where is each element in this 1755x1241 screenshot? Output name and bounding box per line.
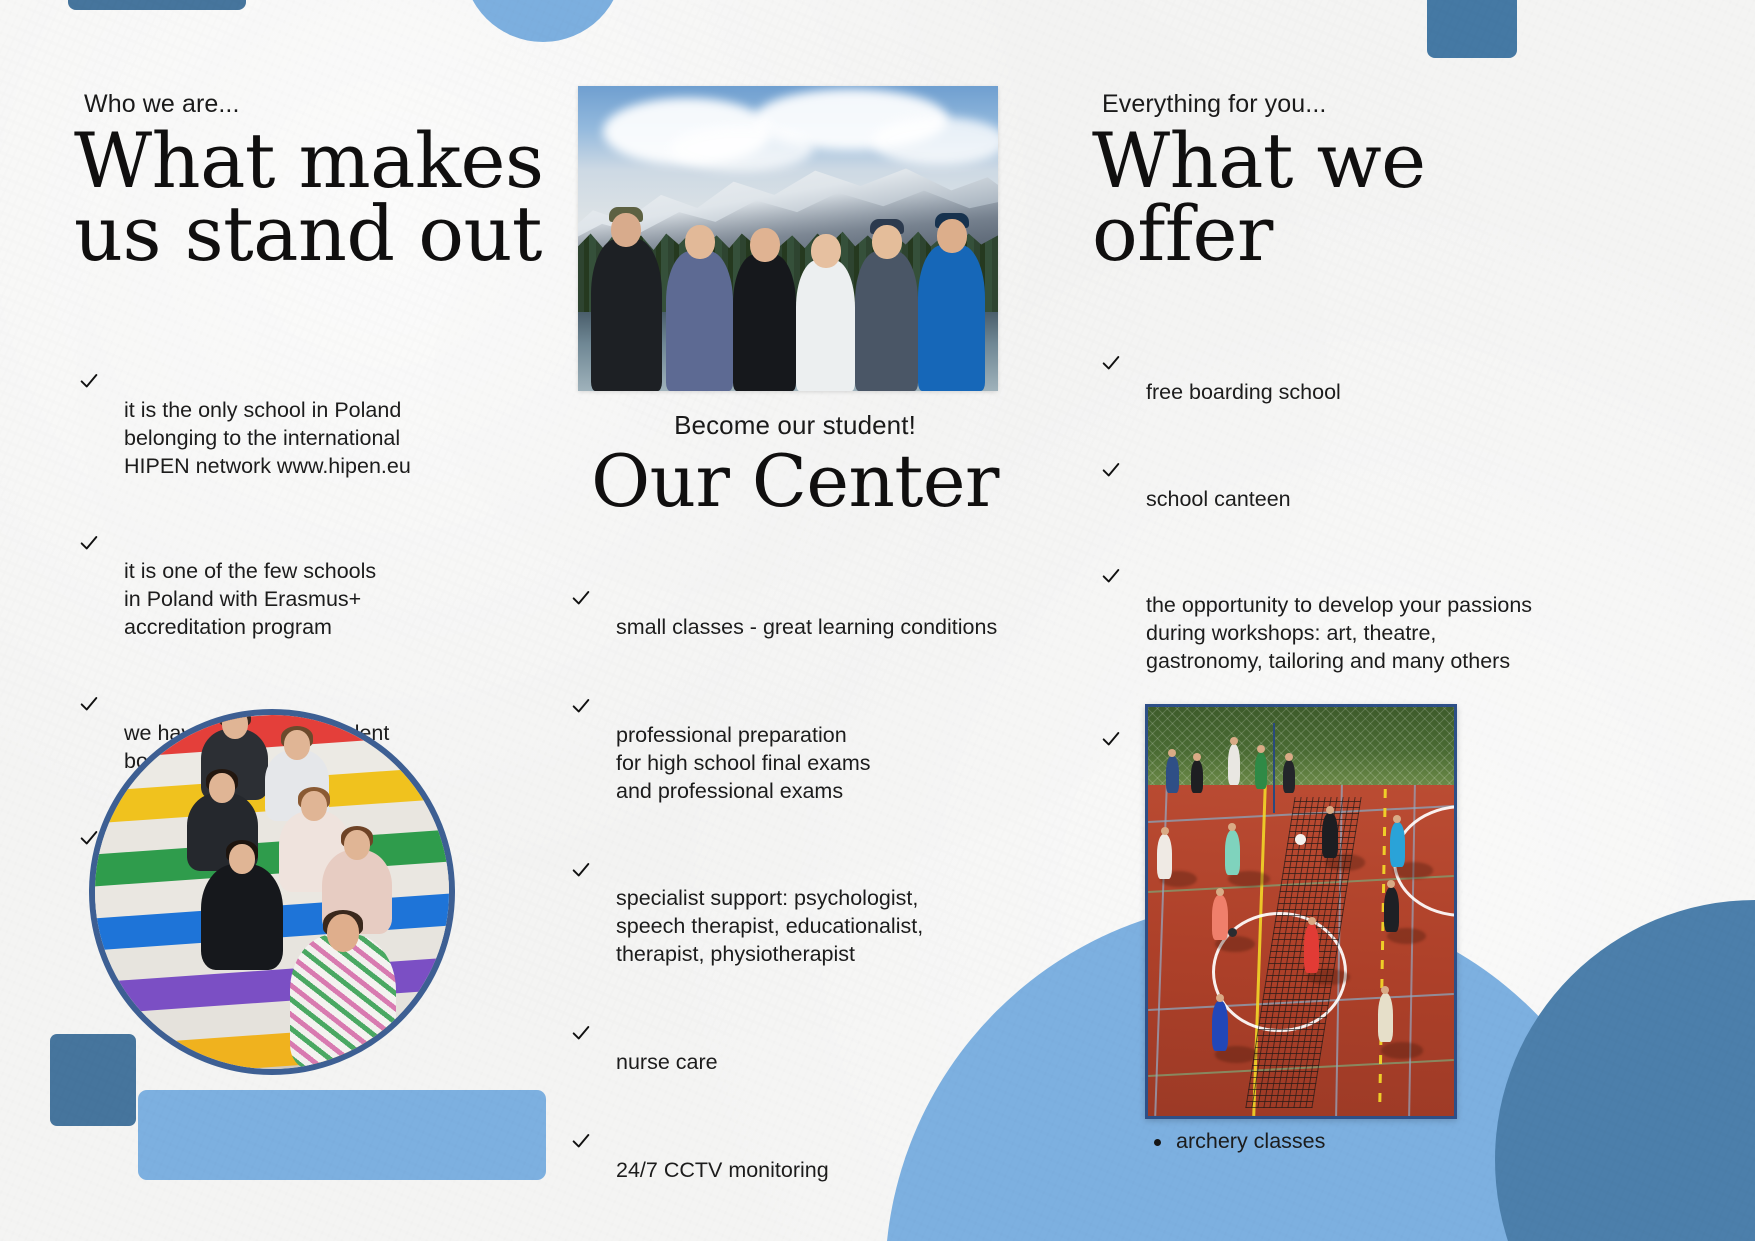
bullet-dot-icon: [1154, 1139, 1161, 1146]
list-item-text: school canteen: [1146, 487, 1291, 511]
list-item: professional preparation for high school…: [570, 666, 1030, 806]
list-item: archery classes: [1146, 1128, 1572, 1156]
check-icon: [78, 665, 100, 687]
right-eyebrow: Everything for you...: [1102, 90, 1572, 119]
list-item-text: 24/7 CCTV monitoring: [616, 1158, 829, 1182]
center-title: Our Center: [560, 447, 1030, 516]
check-icon: [1100, 700, 1122, 722]
list-item-text: specialist support: psychologist, speech…: [616, 886, 923, 966]
list-item: recreational areas in close neighborhood: [570, 1209, 1030, 1241]
decorative-circle-top: [463, 0, 623, 42]
list-item-text: professional preparation for high school…: [616, 723, 871, 803]
decorative-bar-top-left: [68, 0, 246, 10]
photo-group-in-mountains: [578, 86, 998, 391]
list-item: free boarding school: [1100, 323, 1572, 407]
center-eyebrow: Become our student!: [560, 410, 1030, 441]
list-item: it is one of the few schools in Poland w…: [78, 503, 544, 643]
list-item: small classes - great learning condition…: [570, 558, 1030, 642]
photo-sports-court: [1145, 704, 1457, 1119]
check-icon: [1100, 538, 1122, 560]
check-icon: [570, 559, 592, 581]
check-icon: [570, 1102, 592, 1124]
list-item-text: it is one of the few schools in Poland w…: [124, 559, 376, 639]
check-icon: [78, 342, 100, 364]
check-icon: [1100, 324, 1122, 346]
list-item-text: it is the only school in Poland belongin…: [124, 398, 411, 478]
list-item: the opportunity to develop your passions…: [1100, 537, 1572, 677]
right-title: What we offer: [1092, 125, 1572, 271]
photo-students-on-stairs: [89, 709, 455, 1075]
left-title-line-2: us stand out: [74, 189, 542, 278]
check-icon: [570, 667, 592, 689]
decorative-square-top-right: [1427, 0, 1517, 58]
list-item-text: the opportunity to develop your passions…: [1146, 593, 1532, 673]
list-item: school canteen: [1100, 430, 1572, 514]
check-icon: [78, 504, 100, 526]
check-icon: [570, 831, 592, 853]
list-item: specialist support: psychologist, speech…: [570, 830, 1030, 970]
center-feature-list: small classes - great learning condition…: [570, 558, 1030, 1241]
list-item-text: free boarding school: [1146, 380, 1341, 404]
left-title: What makes us stand out: [74, 125, 544, 271]
list-item: it is the only school in Poland belongin…: [78, 341, 544, 481]
check-icon: [570, 994, 592, 1016]
poster-canvas: Who we are... What makes us stand out it…: [0, 0, 1755, 1241]
check-icon: [1100, 431, 1122, 453]
list-item-text: archery classes: [1176, 1129, 1325, 1153]
check-icon: [570, 1210, 592, 1232]
list-item: nurse care: [570, 993, 1030, 1077]
list-item-text: nurse care: [616, 1050, 718, 1074]
list-item: 24/7 CCTV monitoring: [570, 1101, 1030, 1185]
decorative-bar-bottom-left: [138, 1090, 546, 1180]
list-item-text: small classes - great learning condition…: [616, 615, 997, 639]
left-eyebrow: Who we are...: [84, 90, 544, 119]
